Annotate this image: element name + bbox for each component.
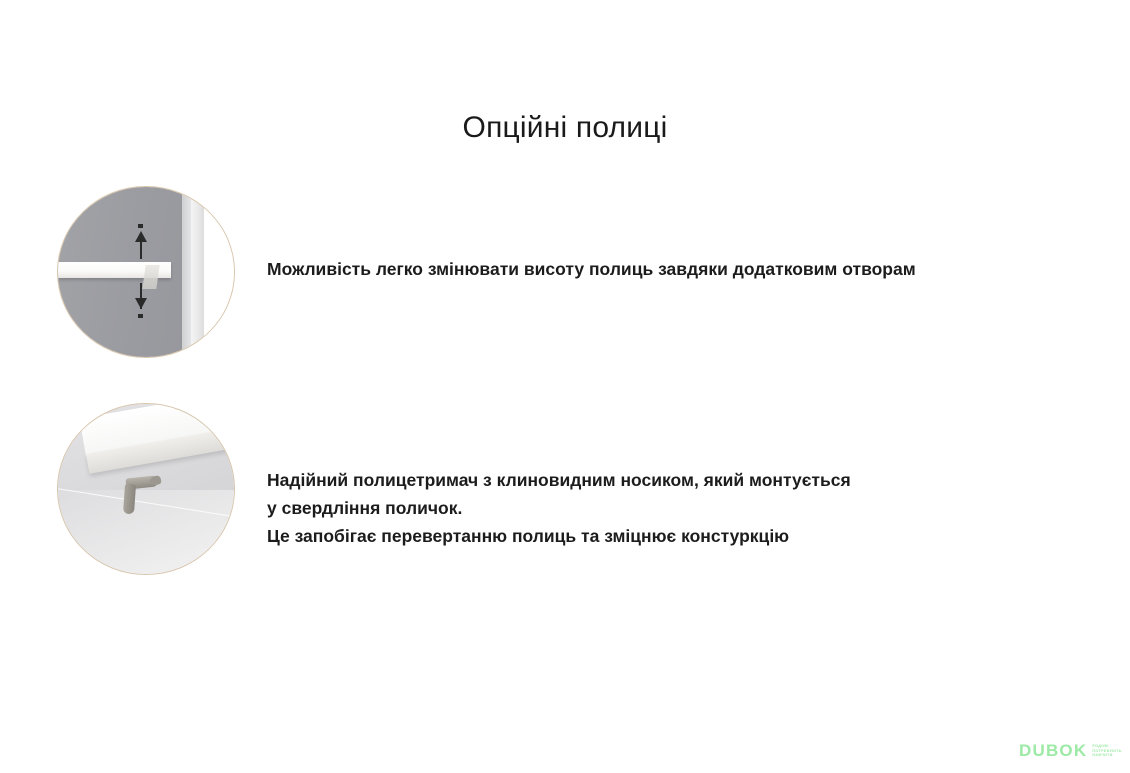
feature-description-shelf-holder: Надійний полицетримач з клиновидним носи… [267, 466, 851, 550]
arrow-tick-top [138, 224, 143, 228]
shelf-support-pin-photo [57, 403, 235, 575]
feature-description-shelf-height: Можливість легко змінювати висоту полиць… [267, 255, 916, 283]
logo-tagline-line-3: Навчити [1092, 753, 1122, 758]
photo-background [204, 187, 235, 357]
arrow-down-icon [135, 298, 147, 309]
slide-canvas: Опційні полиці Можливість легко змінюват… [0, 0, 1130, 773]
page-title: Опційні полиці [0, 108, 1130, 148]
logo-tagline: Родові Потребують Навчити [1092, 744, 1122, 758]
arrow-tick-bottom [138, 314, 143, 318]
shelf-height-arrows-photo [57, 186, 235, 358]
cabinet-front-edge [191, 187, 204, 357]
logo-wordmark: DUBOK [1019, 742, 1087, 760]
dubok-logo: DUBOK Родові Потребують Навчити [1019, 742, 1122, 760]
shelf-holder-stem [123, 484, 136, 515]
arrow-up-shaft [140, 233, 142, 259]
cabinet-edge-shadow [182, 187, 191, 357]
